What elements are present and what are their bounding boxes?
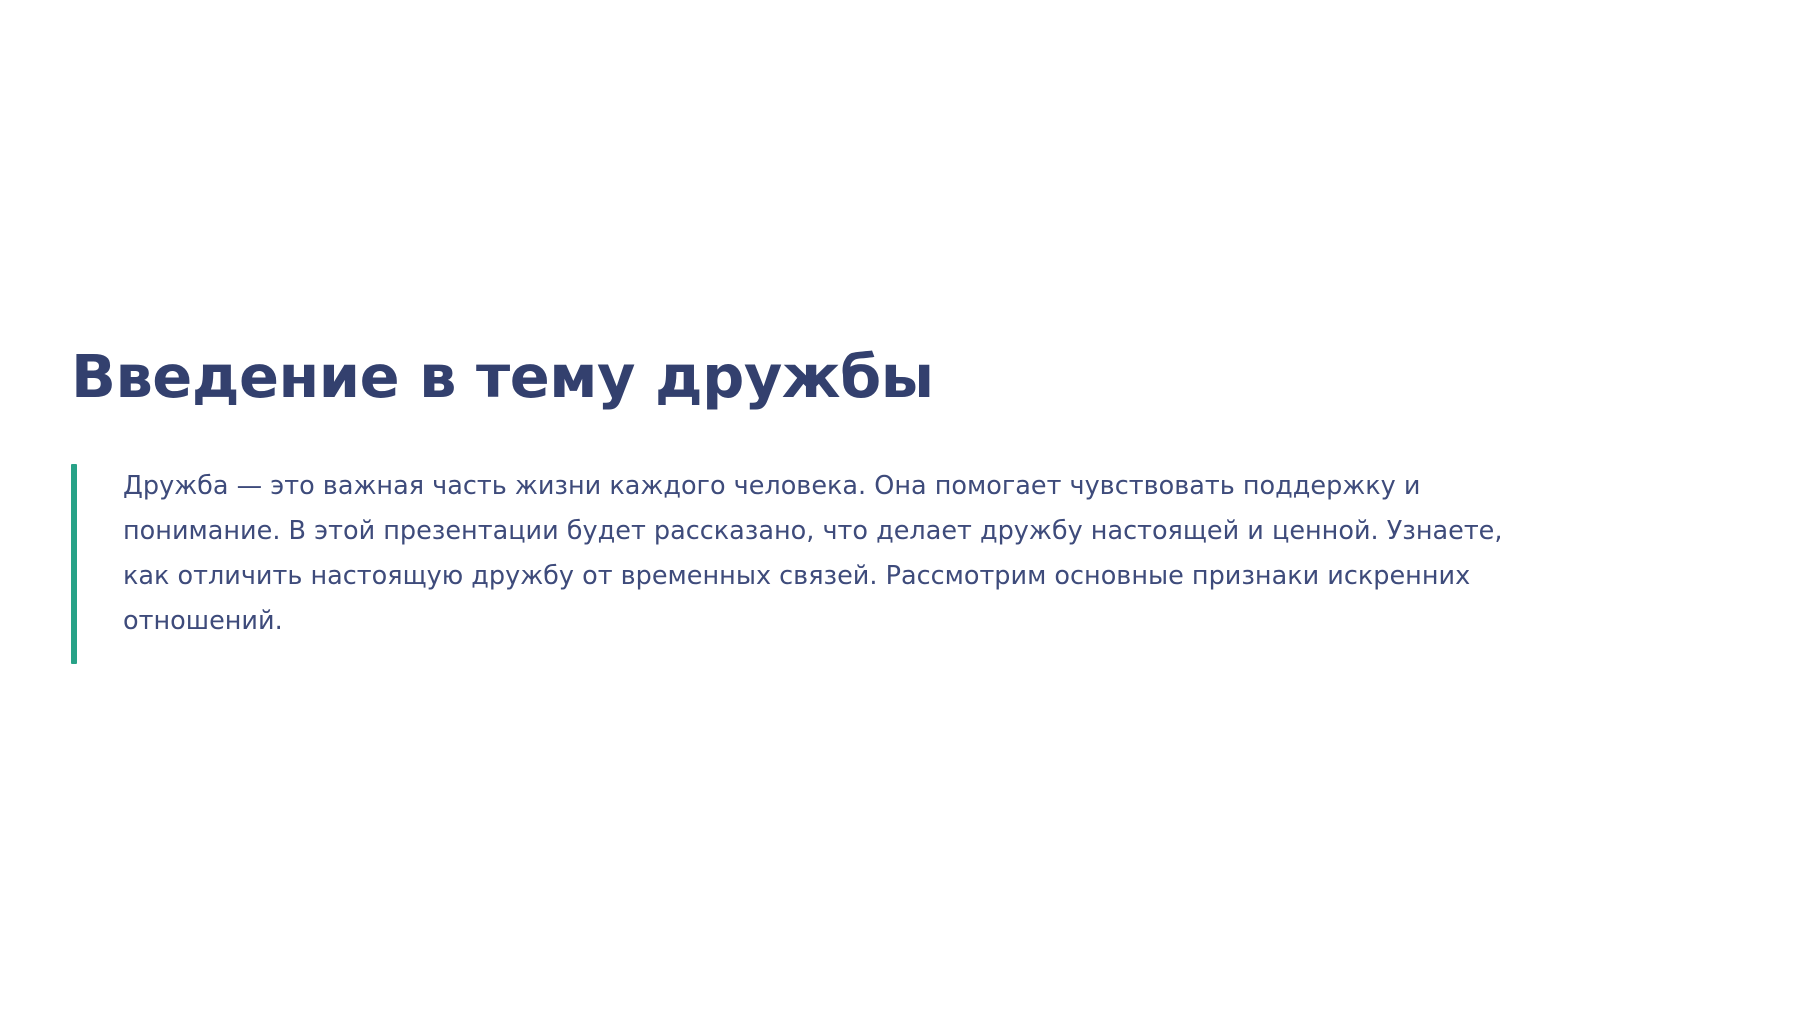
body-paragraph: Дружба — это важная часть жизни каждого … (123, 464, 1513, 644)
body-text-container: Дружба — это важная часть жизни каждого … (77, 464, 1731, 664)
body-callout: Дружба — это важная часть жизни каждого … (71, 464, 1731, 664)
presentation-slide: Введение в тему дружбы Дружба — это важн… (0, 0, 1800, 1013)
page-title: Введение в тему дружбы (71, 345, 1721, 409)
